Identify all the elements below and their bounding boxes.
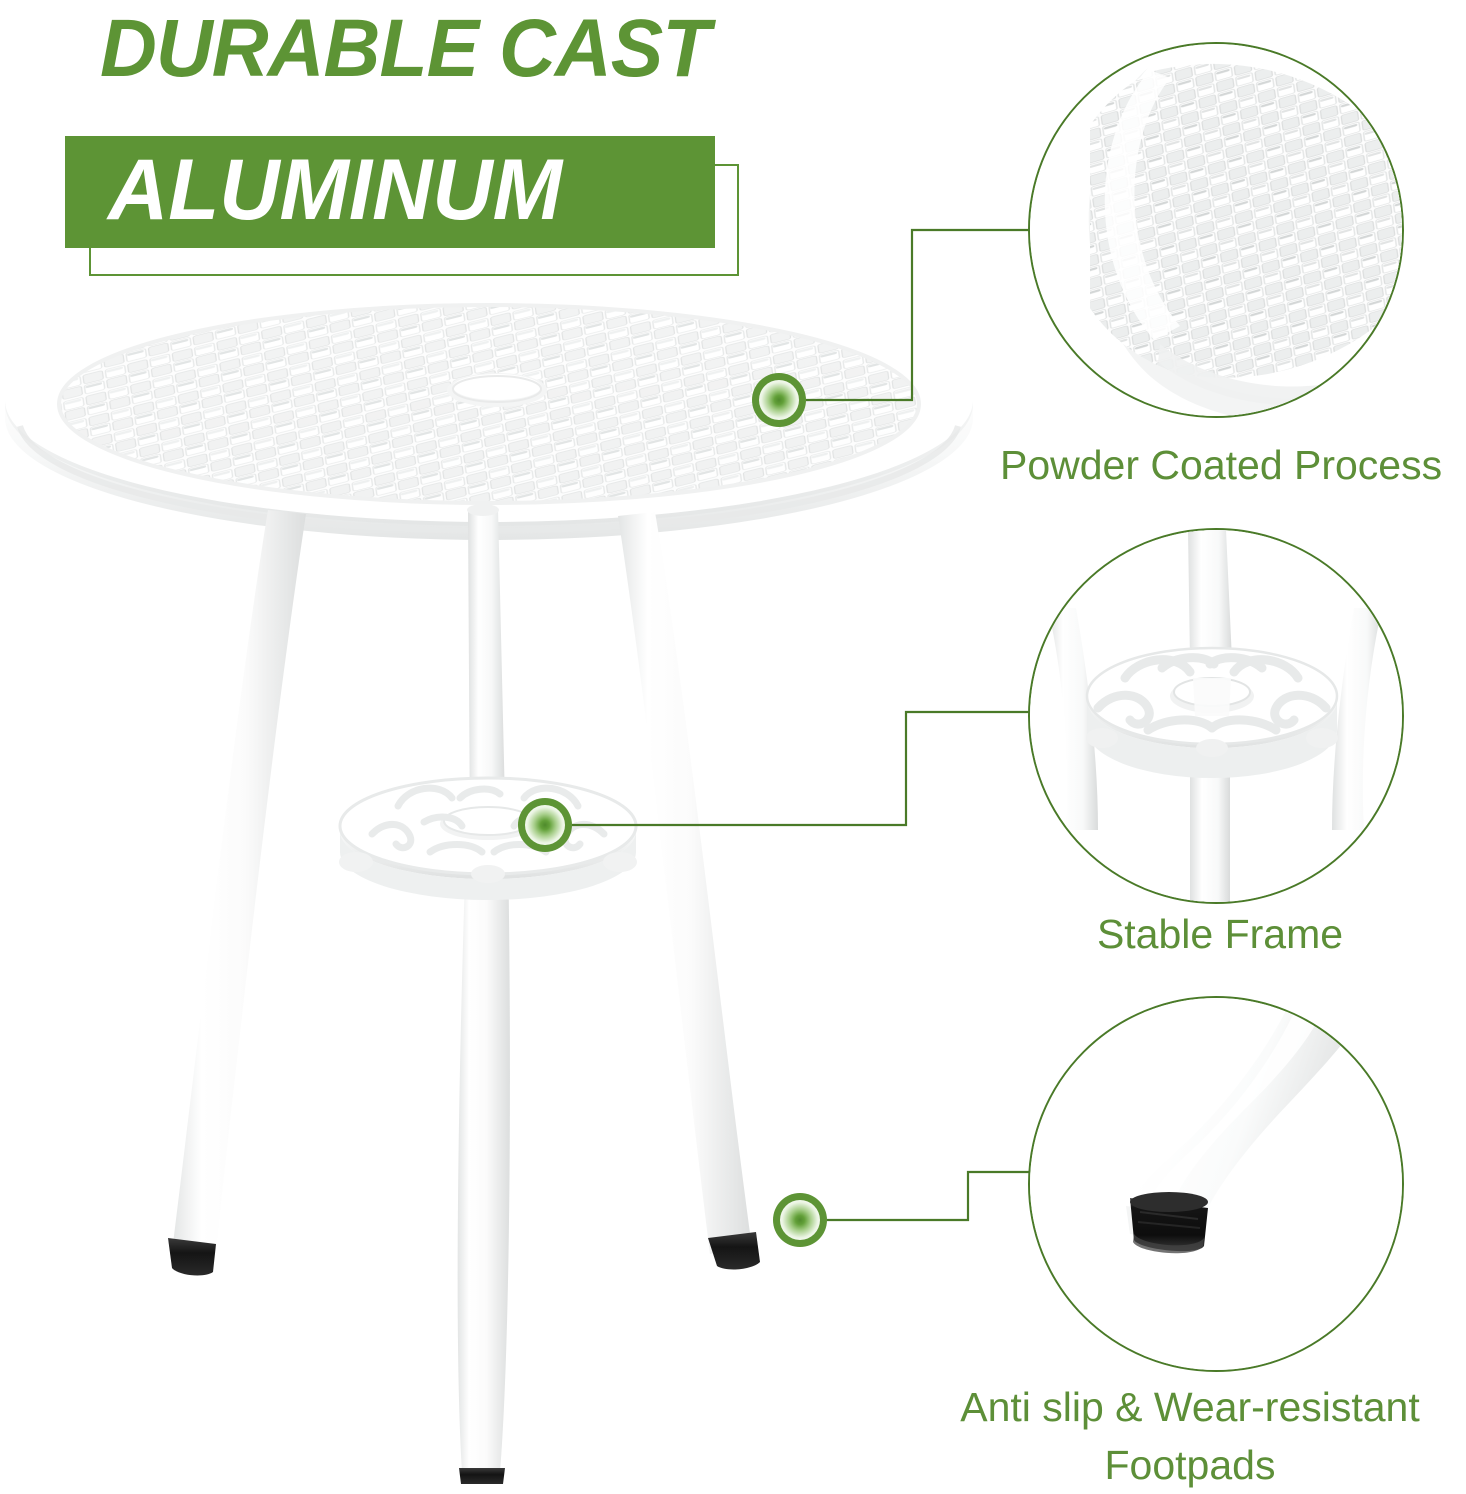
ring-tab-right bbox=[603, 852, 637, 872]
caption-footpads: Anti slip & Wear-resistant Footpads bbox=[940, 1378, 1440, 1494]
hotspot-powder-coated[interactable] bbox=[752, 373, 806, 427]
detail2-ring bbox=[1086, 648, 1338, 778]
caption-footpads-line-1: Anti slip & Wear-resistant bbox=[940, 1378, 1440, 1436]
hotspot-glow bbox=[525, 805, 565, 845]
footpad-left bbox=[168, 1238, 216, 1275]
detail-art-lattice bbox=[1030, 44, 1402, 416]
caption-footpads-line-2: Footpads bbox=[940, 1436, 1440, 1494]
leg-left bbox=[172, 510, 306, 1258]
leg-right bbox=[618, 512, 752, 1254]
detail-circle-powder-coated bbox=[1028, 42, 1404, 418]
leg-front bbox=[458, 846, 510, 1472]
footpad-right bbox=[708, 1232, 760, 1269]
product-illustration bbox=[0, 286, 1000, 1487]
detail3-rubber-pad bbox=[1130, 1192, 1208, 1253]
headline-line-2: ALUMINUM bbox=[108, 141, 562, 240]
detail2-tab-left bbox=[1086, 728, 1118, 748]
detail-circle-footpads bbox=[1028, 996, 1404, 1372]
headline-line-1: DURABLE CAST bbox=[100, 2, 709, 96]
post-collar bbox=[467, 504, 499, 516]
infographic-canvas: DURABLE CAST ALUMINUM bbox=[0, 0, 1466, 1487]
detail2-center-post bbox=[1188, 530, 1232, 660]
hotspot-glow bbox=[759, 380, 799, 420]
caption-powder-coated: Powder Coated Process bbox=[1000, 436, 1440, 494]
detail-circle-stable-frame bbox=[1028, 528, 1404, 904]
title-block: DURABLE CAST ALUMINUM bbox=[0, 0, 800, 280]
umbrella-hole bbox=[447, 373, 547, 407]
stretcher-ring bbox=[339, 778, 637, 900]
footpad-front bbox=[459, 1468, 505, 1484]
detail-art-frame bbox=[1030, 530, 1402, 902]
ring-tab-left bbox=[339, 852, 373, 872]
detail2-tab-front bbox=[1196, 739, 1228, 757]
ring-tab-front bbox=[471, 865, 505, 883]
hotspot-glow bbox=[780, 1200, 820, 1240]
hotspot-footpads[interactable] bbox=[773, 1193, 827, 1247]
caption-stable-frame: Stable Frame bbox=[1000, 905, 1440, 963]
hotspot-stable-frame[interactable] bbox=[518, 798, 572, 852]
detail-art-footpad bbox=[1030, 998, 1402, 1370]
detail2-tab-right bbox=[1306, 728, 1338, 748]
